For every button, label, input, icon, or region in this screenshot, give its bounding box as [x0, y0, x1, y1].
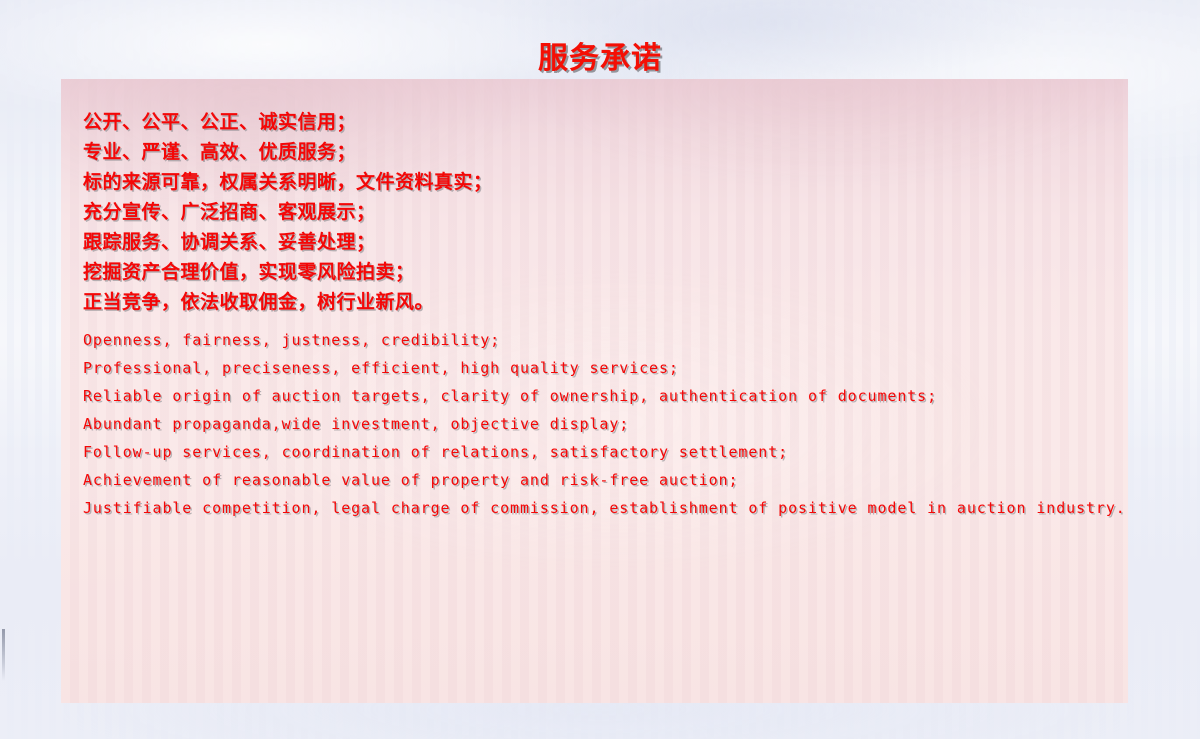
page-title: 服务承诺 [0, 33, 1200, 77]
english-commitment-list: Openness, fairness, justness, credibilit… [83, 326, 1118, 522]
slide-canvas: 服务承诺 公开、公平、公正、诚实信用； 专业、严谨、高效、优质服务； 标的来源可… [0, 0, 1200, 739]
commitment-line-en: Justifiable competition, legal charge of… [83, 494, 1118, 522]
commitment-line-zh: 充分宣传、广泛招商、客观展示； [83, 197, 1118, 227]
commitment-line-en: Openness, fairness, justness, credibilit… [83, 326, 1118, 354]
commitment-line-zh: 公开、公平、公正、诚实信用； [83, 107, 1118, 137]
left-edge-artifact [2, 629, 5, 681]
commitment-line-zh: 标的来源可靠，权属关系明晰，文件资料真实； [83, 167, 1118, 197]
commitment-line-en: Reliable origin of auction targets, clar… [83, 382, 1118, 410]
commitment-line-zh: 专业、严谨、高效、优质服务； [83, 137, 1118, 167]
commitment-line-zh: 挖掘资产合理价值，实现零风险拍卖； [83, 257, 1118, 287]
commitment-line-en: Achievement of reasonable value of prope… [83, 466, 1118, 494]
chinese-commitment-list: 公开、公平、公正、诚实信用； 专业、严谨、高效、优质服务； 标的来源可靠，权属关… [83, 107, 1118, 317]
commitment-line-en: Professional, preciseness, efficient, hi… [83, 354, 1118, 382]
content-panel: 公开、公平、公正、诚实信用； 专业、严谨、高效、优质服务； 标的来源可靠，权属关… [61, 79, 1128, 703]
commitment-line-zh: 跟踪服务、协调关系、妥善处理； [83, 227, 1118, 257]
commitment-line-en: Follow-up services, coordination of rela… [83, 438, 1118, 466]
panel-body: 公开、公平、公正、诚实信用； 专业、严谨、高效、优质服务； 标的来源可靠，权属关… [83, 105, 1118, 703]
commitment-line-en: Abundant propaganda,wide investment, obj… [83, 410, 1118, 438]
commitment-line-zh: 正当竞争，依法收取佣金，树行业新风。 [83, 287, 1118, 317]
